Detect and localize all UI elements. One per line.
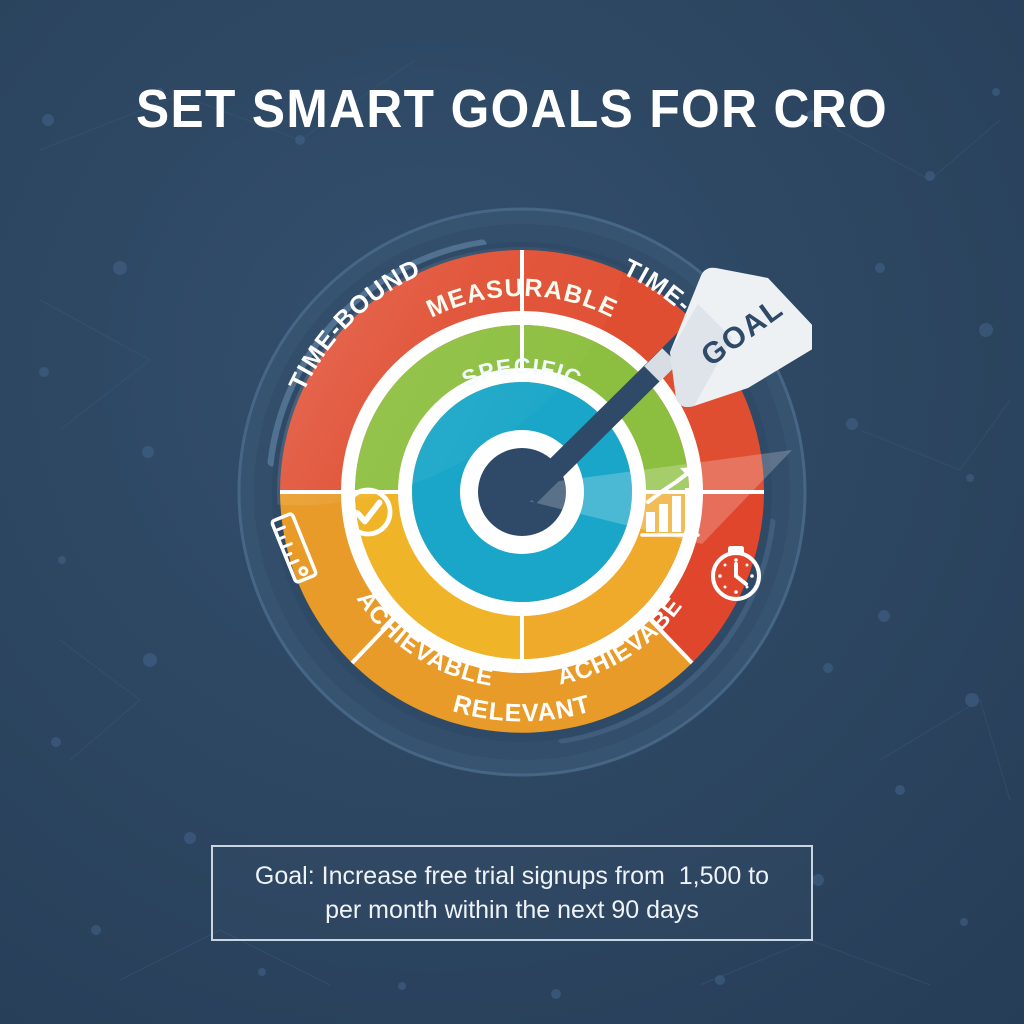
caption-line-2: per month within the next 90 days [325, 893, 699, 927]
page-title: SET SMART GOALS FOR CRO [41, 78, 983, 140]
smart-goal-dial: TIME-BOUND TIME-BOUND RELEVANT MEASURABL… [232, 192, 812, 792]
goal-caption-box: Goal: Increase free trial signups from 1… [211, 845, 813, 941]
infographic-poster: SET SMART GOALS FOR CRO [0, 0, 1024, 1024]
caption-line-1: Goal: Increase free trial signups from 1… [255, 859, 769, 893]
dart-band [652, 356, 670, 374]
